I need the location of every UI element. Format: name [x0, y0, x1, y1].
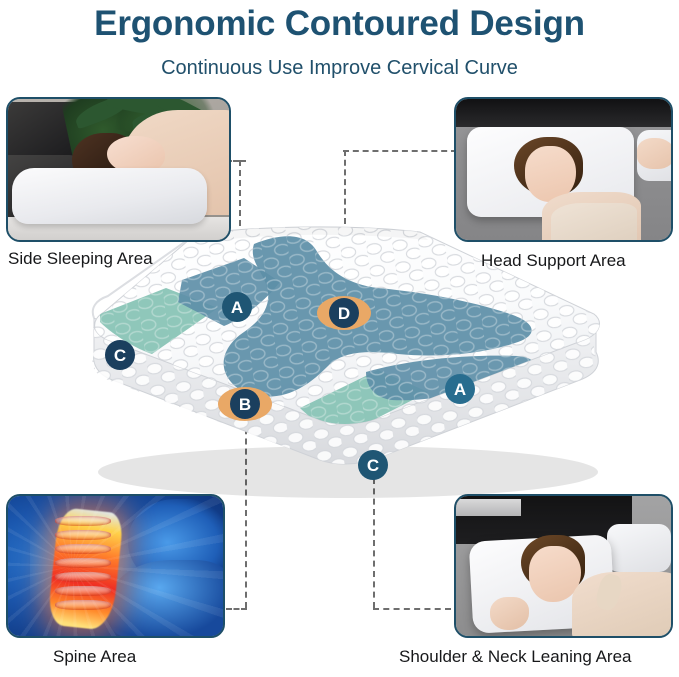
marker-d: D — [329, 298, 359, 328]
photo-side-sleeping — [8, 99, 229, 240]
photo-card-head-support — [454, 97, 673, 242]
marker-label: A — [454, 381, 466, 398]
caption-side-sleeping: Side Sleeping Area — [8, 248, 153, 270]
page-title: Ergonomic Contoured Design — [0, 2, 679, 46]
marker-label: D — [338, 305, 350, 322]
caption-head-support: Head Support Area — [481, 250, 626, 272]
marker-label: A — [231, 299, 243, 316]
marker-d-ring: D — [317, 296, 371, 330]
marker-label: C — [114, 347, 126, 364]
photo-shoulder-neck — [456, 496, 671, 636]
marker-a-left: A — [222, 292, 252, 322]
marker-label: B — [239, 396, 251, 413]
marker-b: B — [230, 389, 260, 419]
photo-card-shoulder-neck — [454, 494, 673, 638]
page-subtitle: Continuous Use Improve Cervical Curve — [0, 54, 679, 82]
photo-card-spine — [6, 494, 225, 638]
caption-shoulder-neck: Shoulder & Neck Leaning Area — [399, 646, 632, 668]
connector-shoulder-neck-h — [373, 608, 451, 610]
marker-c-left: C — [105, 340, 135, 370]
connector-spine-h — [226, 608, 247, 610]
marker-c-bottom: C — [358, 450, 388, 480]
infographic-root: Ergonomic Contoured Design Continuous Us… — [0, 0, 679, 677]
marker-a-right: A — [445, 374, 475, 404]
photo-card-side-sleeping — [6, 97, 231, 242]
connector-head-support-h — [343, 150, 457, 152]
marker-label: C — [367, 457, 379, 474]
photo-head-support — [456, 99, 671, 240]
marker-b-ring: B — [218, 387, 272, 421]
caption-spine: Spine Area — [53, 646, 136, 668]
photo-spine — [8, 496, 223, 636]
